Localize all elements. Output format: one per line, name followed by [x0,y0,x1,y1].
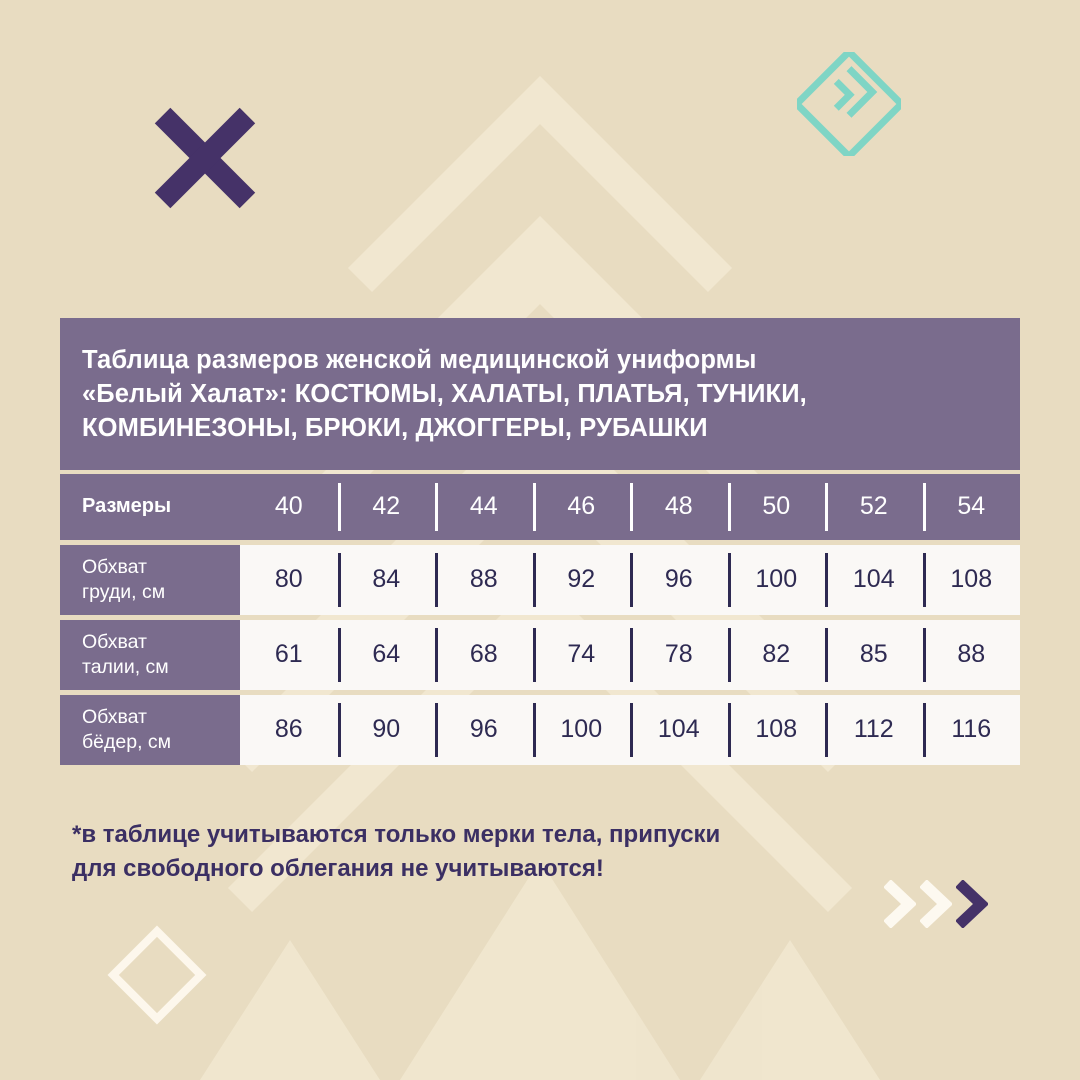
column-header: 48 [630,474,728,540]
column-header: 52 [825,474,923,540]
table-title-band: Таблица размеров женской медицинской уни… [60,318,1020,470]
table-cell: 68 [435,620,533,690]
column-header: 50 [728,474,826,540]
table-cell: 88 [923,620,1021,690]
table-cell: 80 [240,545,338,615]
column-header: 44 [435,474,533,540]
row-cells-waist: 61 64 68 74 78 82 85 88 [240,620,1020,690]
row-label-line-2: груди, см [82,580,240,605]
row-label-line-2: талии, см [82,655,240,680]
table-cell: 85 [825,620,923,690]
chevron-right-icon [920,880,952,928]
column-header: 40 [240,474,338,540]
table-title-line-3: КОМБИНЕЗОНЫ, БРЮКИ, ДЖОГГЕРЫ, РУБАШКИ [82,412,998,446]
table-row: Обхват груди, см 80 84 88 92 96 100 104 … [60,545,1020,615]
table-row: Обхват талии, см 61 64 68 74 78 82 85 88 [60,620,1020,690]
row-cells-hips: 86 90 96 100 104 108 112 116 [240,695,1020,765]
table-cell: 112 [825,695,923,765]
table-cell: 92 [533,545,631,615]
table-cell: 90 [338,695,436,765]
diamond-outline-icon [105,923,209,1027]
table-cell: 104 [825,545,923,615]
column-header: 54 [923,474,1021,540]
table-cell: 88 [435,545,533,615]
table-title-line-1: Таблица размеров женской медицинской уни… [82,344,998,378]
table-title-line-2: «Белый Халат»: КОСТЮМЫ, ХАЛАТЫ, ПЛАТЬЯ, … [82,378,998,412]
table-cell: 61 [240,620,338,690]
footnote-line-1: *в таблице учитываются только мерки тела… [72,818,720,852]
table-cell: 96 [630,545,728,615]
footnote: *в таблице учитываются только мерки тела… [72,818,720,886]
row-label-chest: Обхват груди, см [60,545,240,615]
brand-diamond-chevron-logo-icon [797,52,901,156]
footnote-line-2: для свободного облегания не учитываются! [72,852,720,886]
table-cell: 96 [435,695,533,765]
table-cell: 108 [923,545,1021,615]
table-cell: 108 [728,695,826,765]
row-label-line-1: Обхват [82,555,240,580]
table-cell: 86 [240,695,338,765]
size-cells: 40 42 44 46 48 50 52 54 [240,474,1020,540]
chevron-arrows-group [884,878,999,930]
table-cell: 104 [630,695,728,765]
row-label-hips: Обхват бёдер, см [60,695,240,765]
column-header: 42 [338,474,436,540]
row-label-waist: Обхват талии, см [60,620,240,690]
chevron-right-icon [956,880,988,928]
x-mark-icon [146,99,264,217]
row-label-line-2: бёдер, см [82,730,240,755]
row-cells-chest: 80 84 88 92 96 100 104 108 [240,545,1020,615]
table-header-row: Размеры 40 42 44 46 48 50 52 54 [60,474,1020,540]
table-cell: 84 [338,545,436,615]
table-cell: 116 [923,695,1021,765]
row-header-label: Размеры [60,474,240,540]
table-cell: 82 [728,620,826,690]
column-header: 46 [533,474,631,540]
table-cell: 74 [533,620,631,690]
chevron-right-icon [884,880,916,928]
table-cell: 78 [630,620,728,690]
size-chart-table: Таблица размеров женской медицинской уни… [60,318,1020,765]
table-cell: 64 [338,620,436,690]
row-label-line-1: Обхват [82,630,240,655]
table-cell: 100 [728,545,826,615]
table-row: Обхват бёдер, см 86 90 96 100 104 108 11… [60,695,1020,765]
row-label-line-1: Обхват [82,705,240,730]
table-cell: 100 [533,695,631,765]
